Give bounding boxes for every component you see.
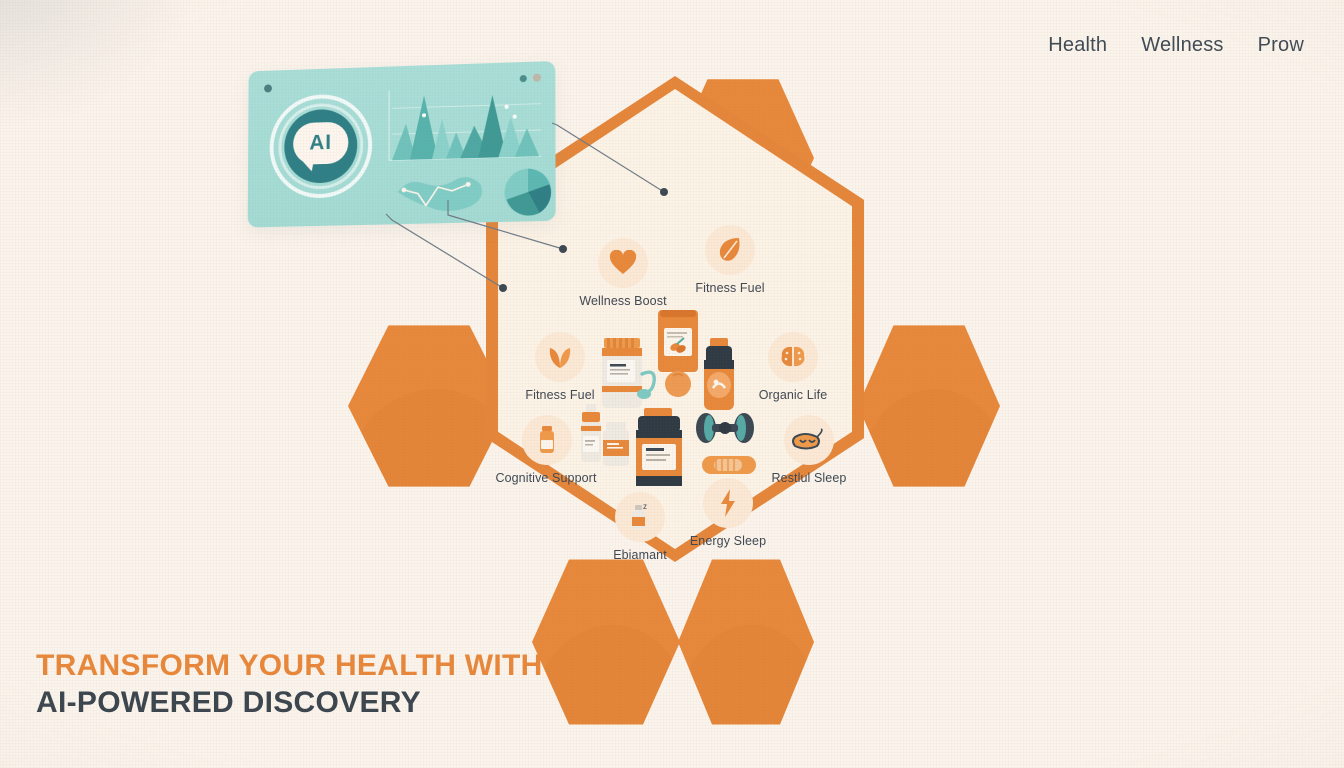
connector-node <box>499 284 507 292</box>
connector-node <box>559 245 567 253</box>
nav-item-prow[interactable]: Prow <box>1258 34 1304 57</box>
nav-item-wellness[interactable]: Wellness <box>1141 34 1223 57</box>
headline-line-1: TRANSFORM YOUR HEALTH WITH <box>36 648 543 685</box>
connector-node <box>660 188 668 196</box>
infographic-canvas: Health Wellness Prow <box>0 0 1344 768</box>
headline: TRANSFORM YOUR HEALTH WITH AI-POWERED DI… <box>36 648 543 721</box>
top-navigation: Health Wellness Prow <box>1048 34 1304 57</box>
headline-line-2: AI-POWERED DISCOVERY <box>36 685 543 722</box>
nav-item-health[interactable]: Health <box>1048 34 1107 57</box>
